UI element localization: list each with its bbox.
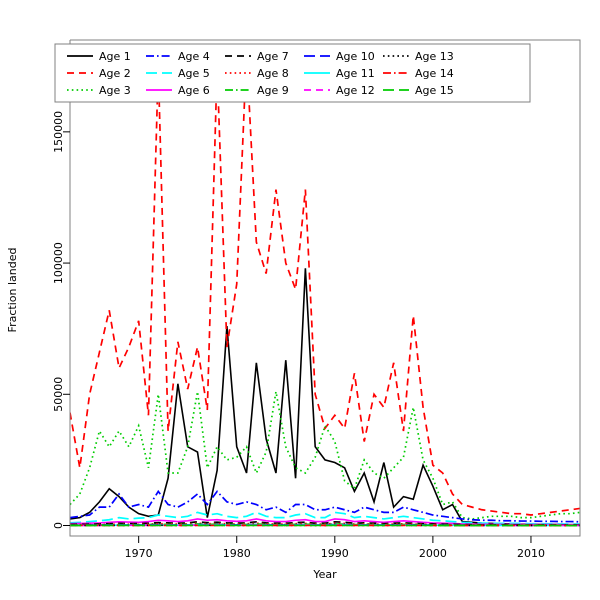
y-tick-label: 100000 — [52, 242, 65, 284]
legend-label: Age 2 — [99, 67, 131, 80]
y-tick-label: 0 — [52, 522, 65, 529]
legend-label: Age 15 — [415, 84, 454, 97]
legend-label: Age 13 — [415, 50, 454, 63]
legend-label: Age 7 — [257, 50, 289, 63]
legend-label: Age 5 — [178, 67, 210, 80]
x-tick-label: 1980 — [223, 547, 251, 560]
legend-label: Age 1 — [99, 50, 131, 63]
x-tick-label: 1990 — [321, 547, 349, 560]
y-tick-label: 50000 — [52, 377, 65, 412]
x-tick-label: 2010 — [517, 547, 545, 560]
legend-label: Age 4 — [178, 50, 210, 63]
legend-label: Age 11 — [336, 67, 375, 80]
y-tick-label: 150000 — [52, 111, 65, 153]
x-tick-label: 2000 — [419, 547, 447, 560]
chart-legend: Age 1Age 2Age 3Age 4Age 5Age 6Age 7Age 8… — [55, 44, 530, 102]
line-chart: 19701980199020002010 050000100000150000 … — [0, 0, 600, 600]
x-axis-title: Year — [312, 568, 337, 581]
x-tick-label: 1970 — [125, 547, 153, 560]
chart-figure: 19701980199020002010 050000100000150000 … — [0, 0, 600, 600]
legend-label: Age 14 — [415, 67, 454, 80]
y-axis-title: Fraction landed — [6, 248, 19, 333]
legend-label: Age 6 — [178, 84, 210, 97]
legend-label: Age 3 — [99, 84, 131, 97]
legend-label: Age 10 — [336, 50, 375, 63]
legend-label: Age 12 — [336, 84, 375, 97]
legend-label: Age 8 — [257, 67, 289, 80]
legend-label: Age 9 — [257, 84, 289, 97]
